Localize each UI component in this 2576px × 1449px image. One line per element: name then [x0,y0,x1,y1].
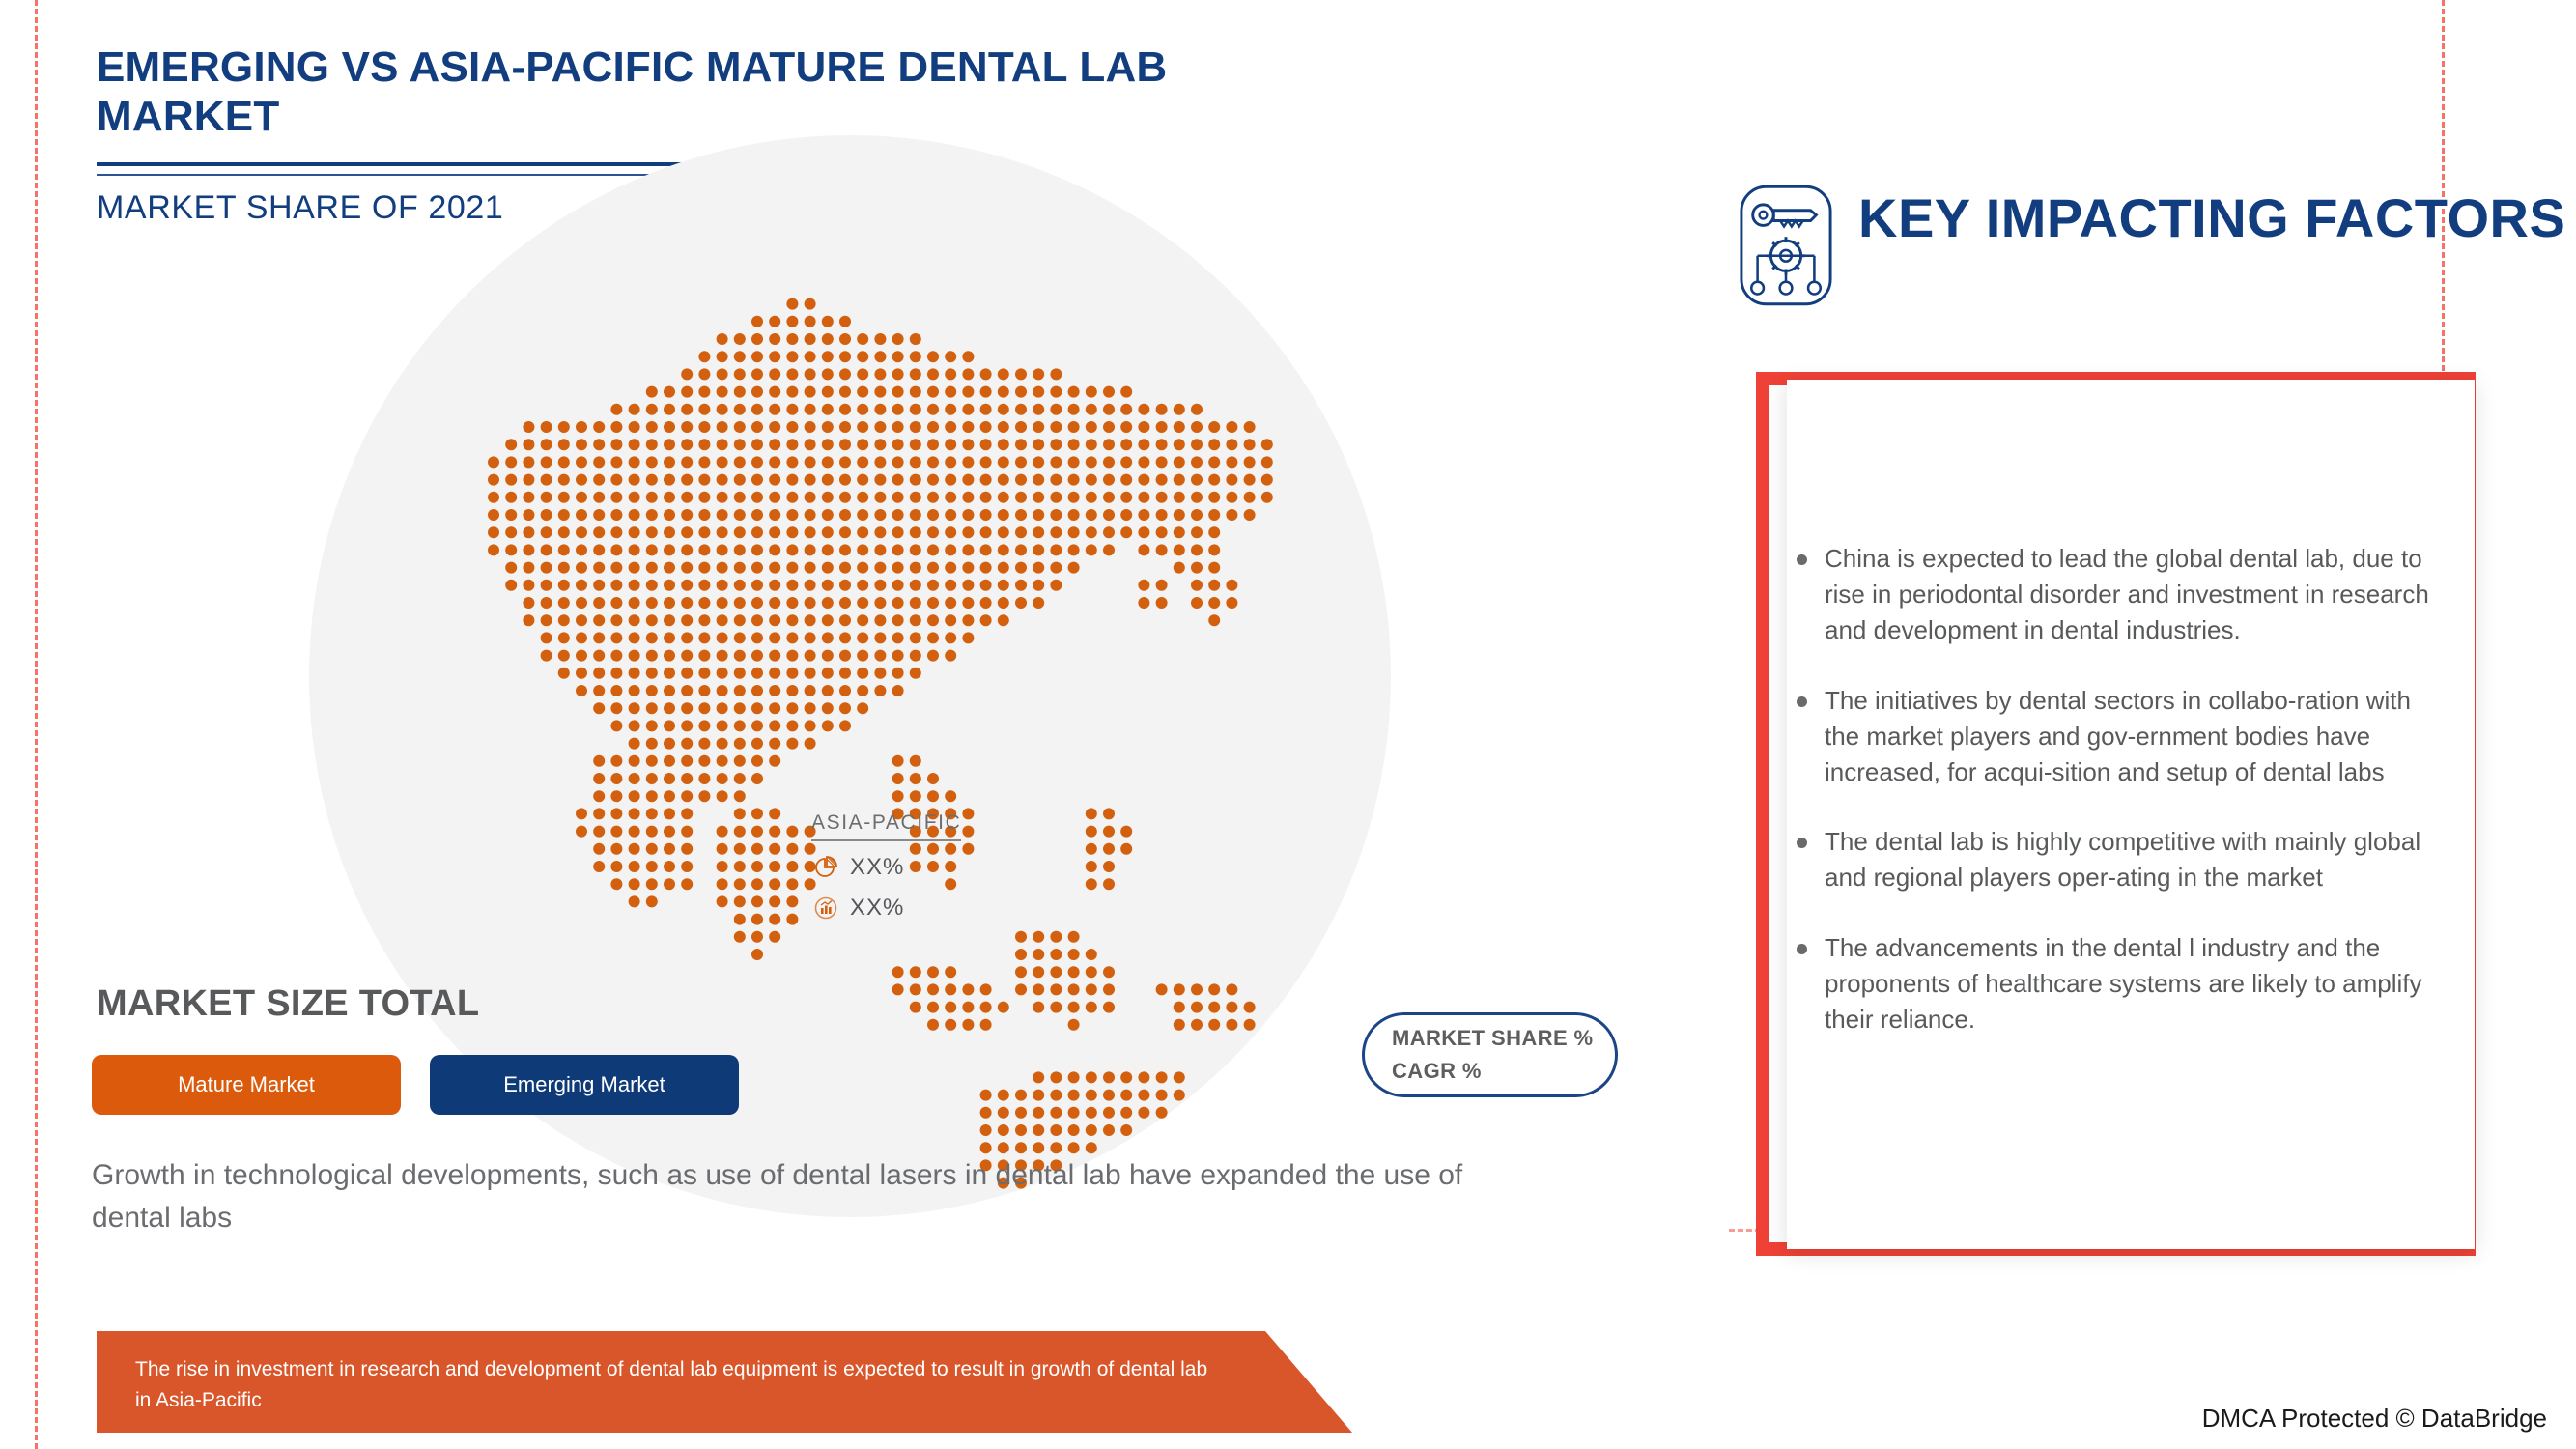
key-factor-bullet: The dental lab is highly competitive wit… [1797,824,2434,895]
key-factor-bullet-text: The advancements in the dental l industr… [1825,930,2434,1037]
bottom-banner-text: The rise in investment in research and d… [135,1354,1227,1415]
legend-region-label: ASIA-PACIFIC [811,811,961,841]
badge-cagr-label: CAGR % [1392,1055,1615,1088]
legend-cagr-row: XX% [811,894,1043,923]
decorative-dashed-line-left [35,0,38,1449]
legend-pill-emerging-market[interactable]: Emerging Market [430,1055,739,1115]
growth-chart-icon [811,894,840,923]
key-factor-bullet: The initiatives by dental sectors in col… [1797,683,2434,790]
page-title: EMERGING VS ASIA-PACIFIC MATURE DENTAL L… [97,43,1304,141]
key-factors-header: KEY IMPACTING FACTORS [1739,184,2565,307]
key-factors-bullet-list: China is expected to lead the global den… [1797,541,2434,1072]
legend-market-share-row: XX% [811,853,1043,882]
key-factors-title: KEY IMPACTING FACTORS [1858,184,2565,247]
bullet-dot-icon [1797,554,1807,565]
bottom-banner: The rise in investment in research and d… [97,1331,1352,1433]
pie-chart-icon [811,853,840,882]
key-factor-bullet: The advancements in the dental l industr… [1797,930,2434,1037]
key-factor-bullet: China is expected to lead the global den… [1797,541,2434,648]
key-factor-bullet-text: China is expected to lead the global den… [1825,541,2434,648]
market-share-badge: MARKET SHARE % CAGR % [1362,1012,1618,1097]
key-factor-bullet-text: The initiatives by dental sectors in col… [1825,683,2434,790]
bullet-dot-icon [1797,944,1807,954]
legend-cagr-value: XX% [850,895,904,922]
market-size-legend: Mature Market Emerging Market [92,1055,739,1115]
bullet-dot-icon [1797,696,1807,707]
legend-pill-mature-market[interactable]: Mature Market [92,1055,401,1115]
key-factor-bullet-text: The dental lab is highly competitive wit… [1825,824,2434,895]
market-size-total-title: MARKET SIZE TOTAL [97,983,479,1025]
bullet-dot-icon [1797,838,1807,848]
key-gear-network-icon [1739,184,1833,307]
footer-copyright: DMCA Protected © DataBridge [2202,1404,2547,1434]
badge-market-share-label: MARKET SHARE % [1392,1022,1615,1055]
growth-note: Growth in technological developments, su… [92,1154,1521,1238]
map-legend: ASIA-PACIFIC XX% XX% [811,811,1043,923]
legend-market-share-value: XX% [850,854,904,881]
